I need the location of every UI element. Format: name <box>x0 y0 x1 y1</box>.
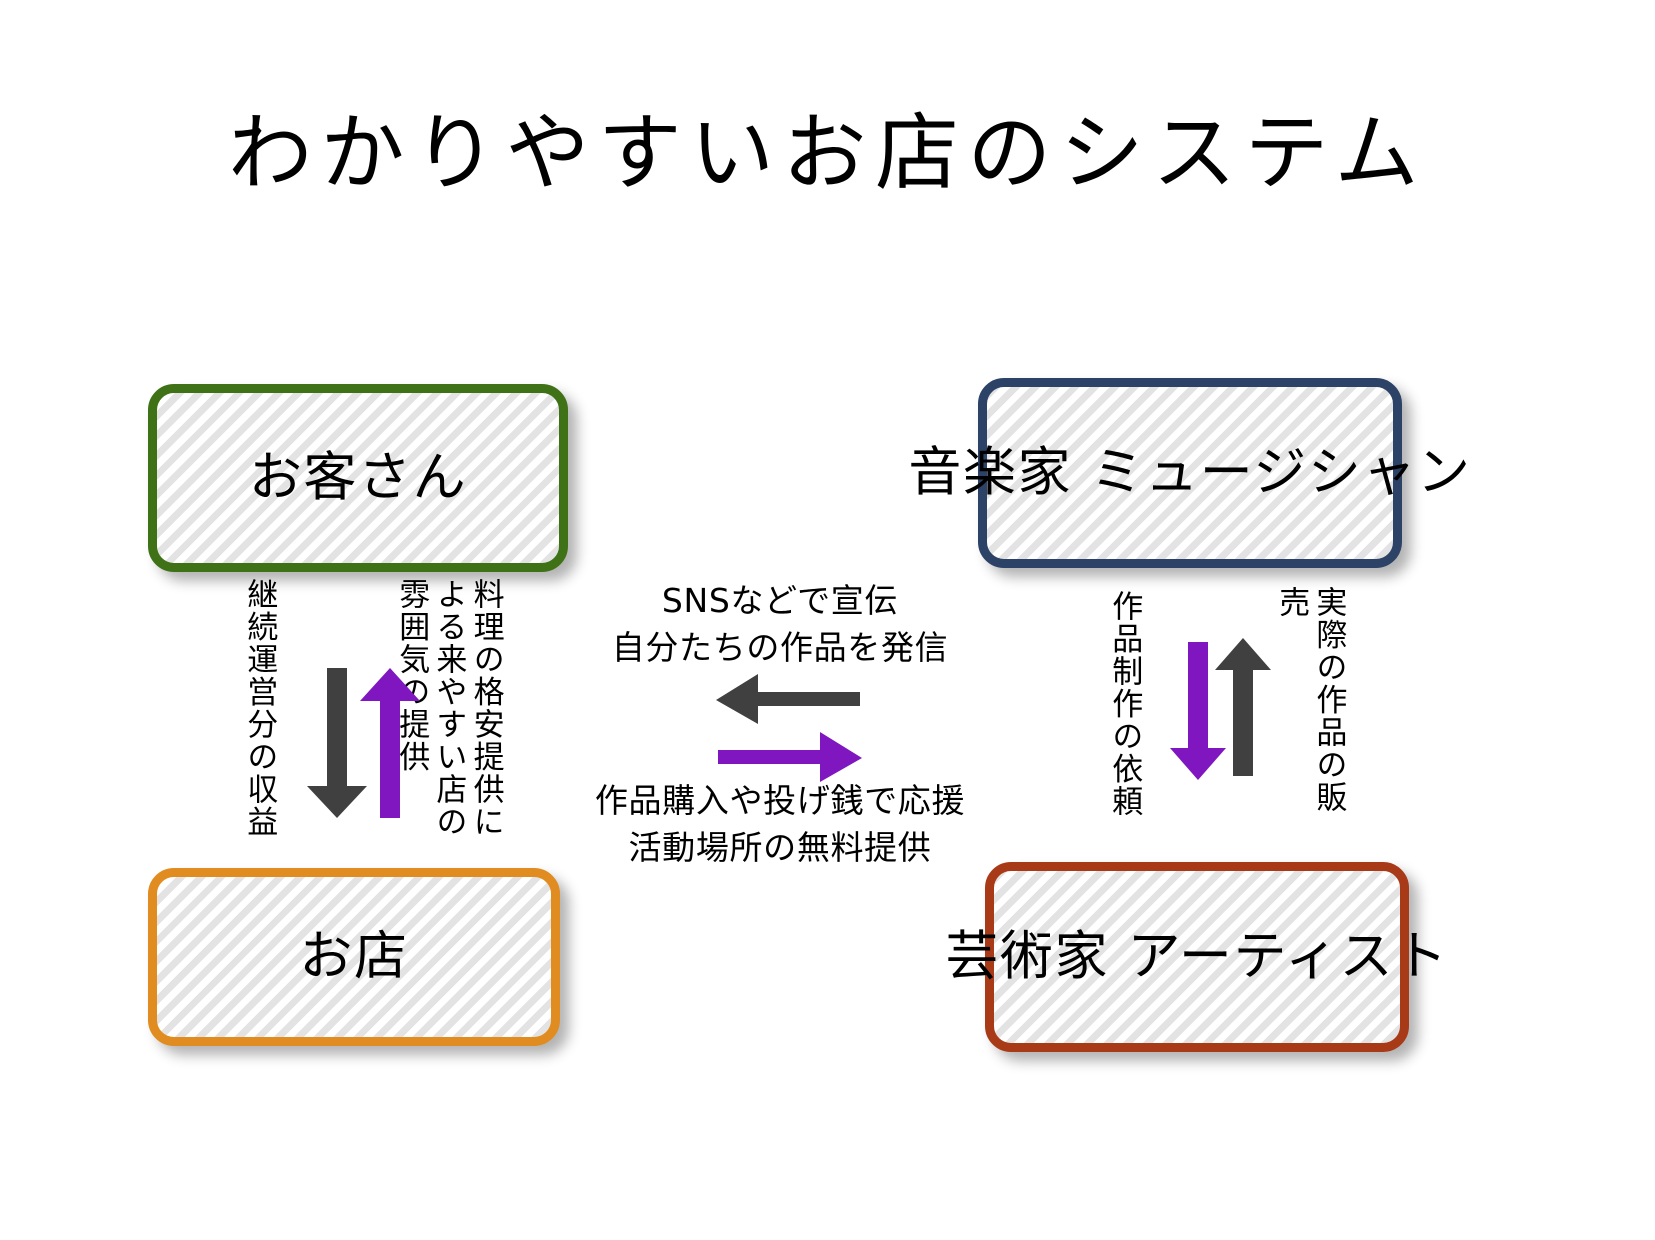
slide-canvas: わかりやすいお店のシステム お客さん お店 音楽家 ミュージシャン 芸術家 アー… <box>0 0 1655 1240</box>
node-customer-label: お客さん <box>249 448 467 508</box>
node-artist[interactable]: 芸術家 アーティスト <box>985 862 1409 1052</box>
node-musician-label: 音楽家 ミュージシャン <box>908 443 1471 503</box>
arrow-up-icon <box>358 668 424 818</box>
arrow-up-icon <box>1213 638 1273 776</box>
center-flow-top-label: SNSなどで宣伝 自分たちの作品を発信 <box>570 578 990 672</box>
node-artist-label: 芸術家 アーティスト <box>945 927 1448 987</box>
node-musician[interactable]: 音楽家 ミュージシャン <box>978 378 1402 568</box>
center-flow-bottom-label: 作品購入や投げ銭で応援 活動場所の無料提供 <box>570 778 990 872</box>
right-flow-down-label: 作品制作の依頼 <box>1105 590 1142 850</box>
node-shop-label: お店 <box>299 927 408 987</box>
node-shop[interactable]: お店 <box>148 868 560 1046</box>
page-title: わかりやすいお店のシステム <box>0 86 1655 207</box>
right-flow-up-label: 実際の作品の販売 <box>1272 586 1346 846</box>
arrow-right-icon <box>718 730 864 784</box>
arrow-left-icon <box>714 672 860 726</box>
node-customer[interactable]: お客さん <box>148 384 568 572</box>
left-flow-down-label: 継続運営分の収益 <box>240 578 277 848</box>
